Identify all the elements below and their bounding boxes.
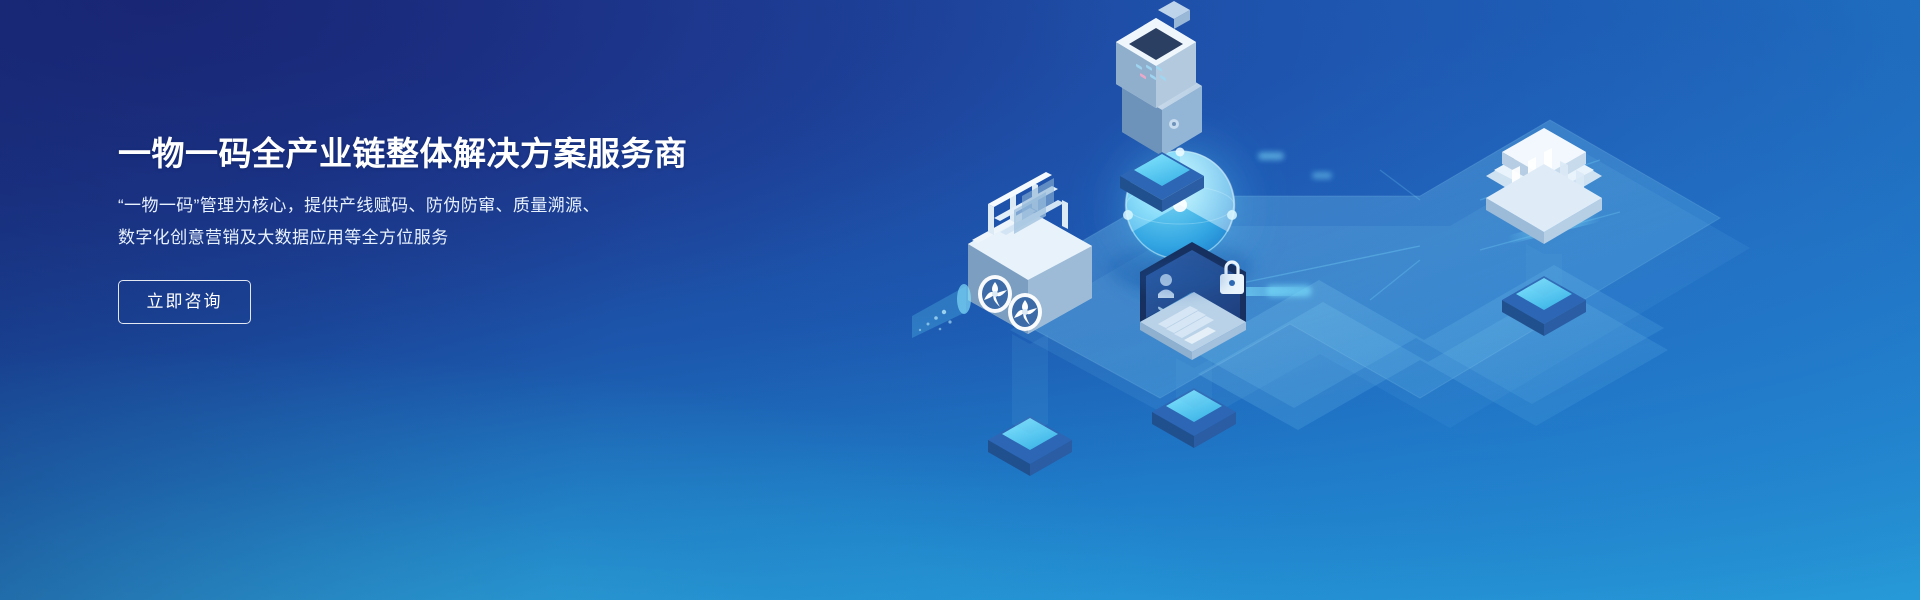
hero-subtitle: “一物一码”管理为核心，提供产线赋码、防伪防窜、质量溯源、 数字化创意营销及大数… <box>118 190 738 254</box>
airflow-beam <box>912 284 971 338</box>
hero-subtitle-line-1: “一物一码”管理为核心，提供产线赋码、防伪防窜、质量溯源、 <box>118 190 738 222</box>
pos-terminal-icon <box>1116 1 1204 212</box>
consult-now-button[interactable]: 立即咨询 <box>118 280 251 324</box>
hero-copy: 一物一码全产业链整体解决方案服务商 “一物一码”管理为核心，提供产线赋码、防伪防… <box>118 132 738 324</box>
isometric-network-illustration <box>860 0 1920 600</box>
hero-subtitle-line-2: 数字化创意营销及大数据应用等全方位服务 <box>118 222 738 254</box>
hero-banner: 一物一码全产业链整体解决方案服务商 “一物一码”管理为核心，提供产线赋码、防伪防… <box>0 0 1920 600</box>
page-title: 一物一码全产业链整体解决方案服务商 <box>118 132 738 176</box>
cta-wrapper: 立即咨询 <box>118 280 738 324</box>
